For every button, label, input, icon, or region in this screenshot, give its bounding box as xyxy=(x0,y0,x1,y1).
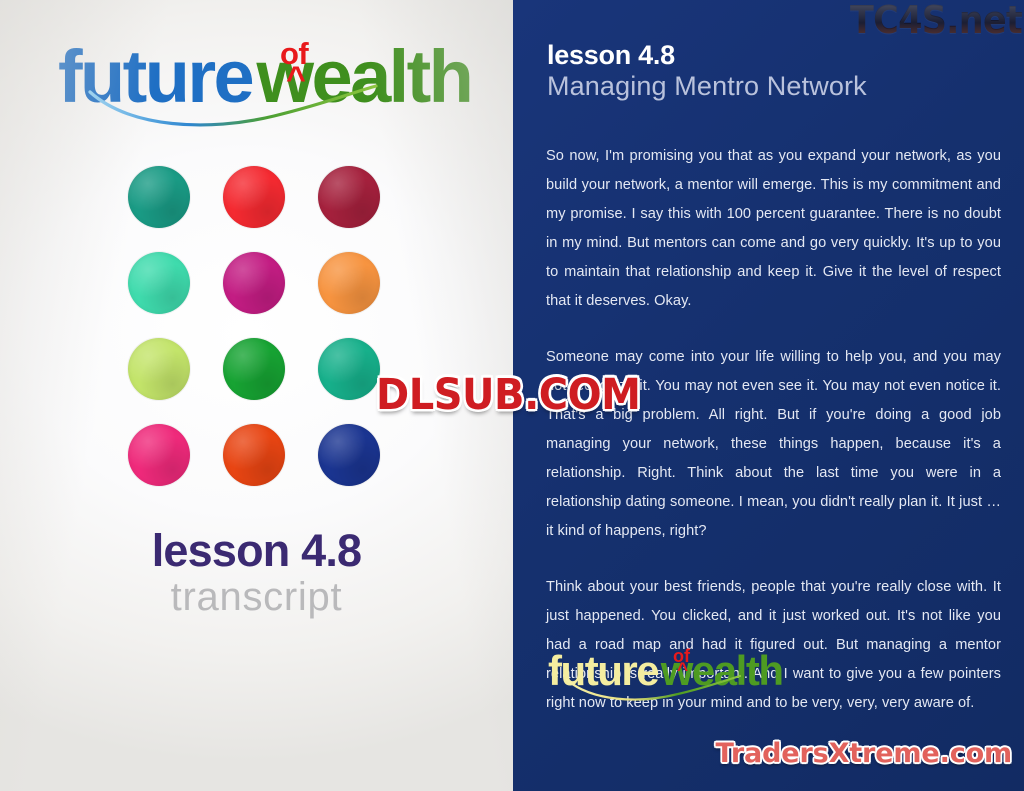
watermark-tc4s: TC4S.net xyxy=(850,0,1022,42)
color-dot-teal xyxy=(128,166,190,228)
color-dot-teal-green xyxy=(318,338,380,400)
cover-lesson-title: lesson 4.8 xyxy=(0,528,513,574)
color-dot-yellow-green xyxy=(128,338,190,400)
transcript-body: So now, I'm promising you that as you ex… xyxy=(546,142,1001,718)
color-dot-navy-blue xyxy=(318,424,380,486)
color-dot-green xyxy=(223,338,285,400)
cover-subtitle: transcript xyxy=(0,576,513,618)
color-dot-red xyxy=(223,166,285,228)
color-dot-grid xyxy=(128,166,380,486)
transcript-paragraph: So now, I'm promising you that as you ex… xyxy=(546,142,1001,316)
color-dot-crimson xyxy=(318,166,380,228)
color-dot-mint-green xyxy=(128,252,190,314)
lesson-header: lesson 4.8 Managing Mentro Network xyxy=(547,40,967,101)
lesson-transcript-page: futurewealth of ^ xyxy=(0,0,1024,791)
lesson-subtitle: Managing Mentro Network xyxy=(547,71,967,101)
future-of-wealth-logo: futurewealth of ^ xyxy=(58,40,478,132)
color-dot-pink xyxy=(128,424,190,486)
watermark-dlsub: DLSUB.COM xyxy=(376,371,641,420)
color-dot-orange xyxy=(318,252,380,314)
color-dot-orange-red xyxy=(223,424,285,486)
footer-logo-swoosh-icon xyxy=(566,676,746,704)
cover-title-block: lesson 4.8 transcript xyxy=(0,528,513,618)
watermark-tradersxtreme: TradersXtreme.com xyxy=(716,738,1012,769)
footer-future-of-wealth-logo: futurewealth of ^ xyxy=(548,650,808,706)
logo-swoosh-icon xyxy=(88,86,388,132)
color-dot-magenta xyxy=(223,252,285,314)
lesson-number: lesson 4.8 xyxy=(547,40,967,70)
